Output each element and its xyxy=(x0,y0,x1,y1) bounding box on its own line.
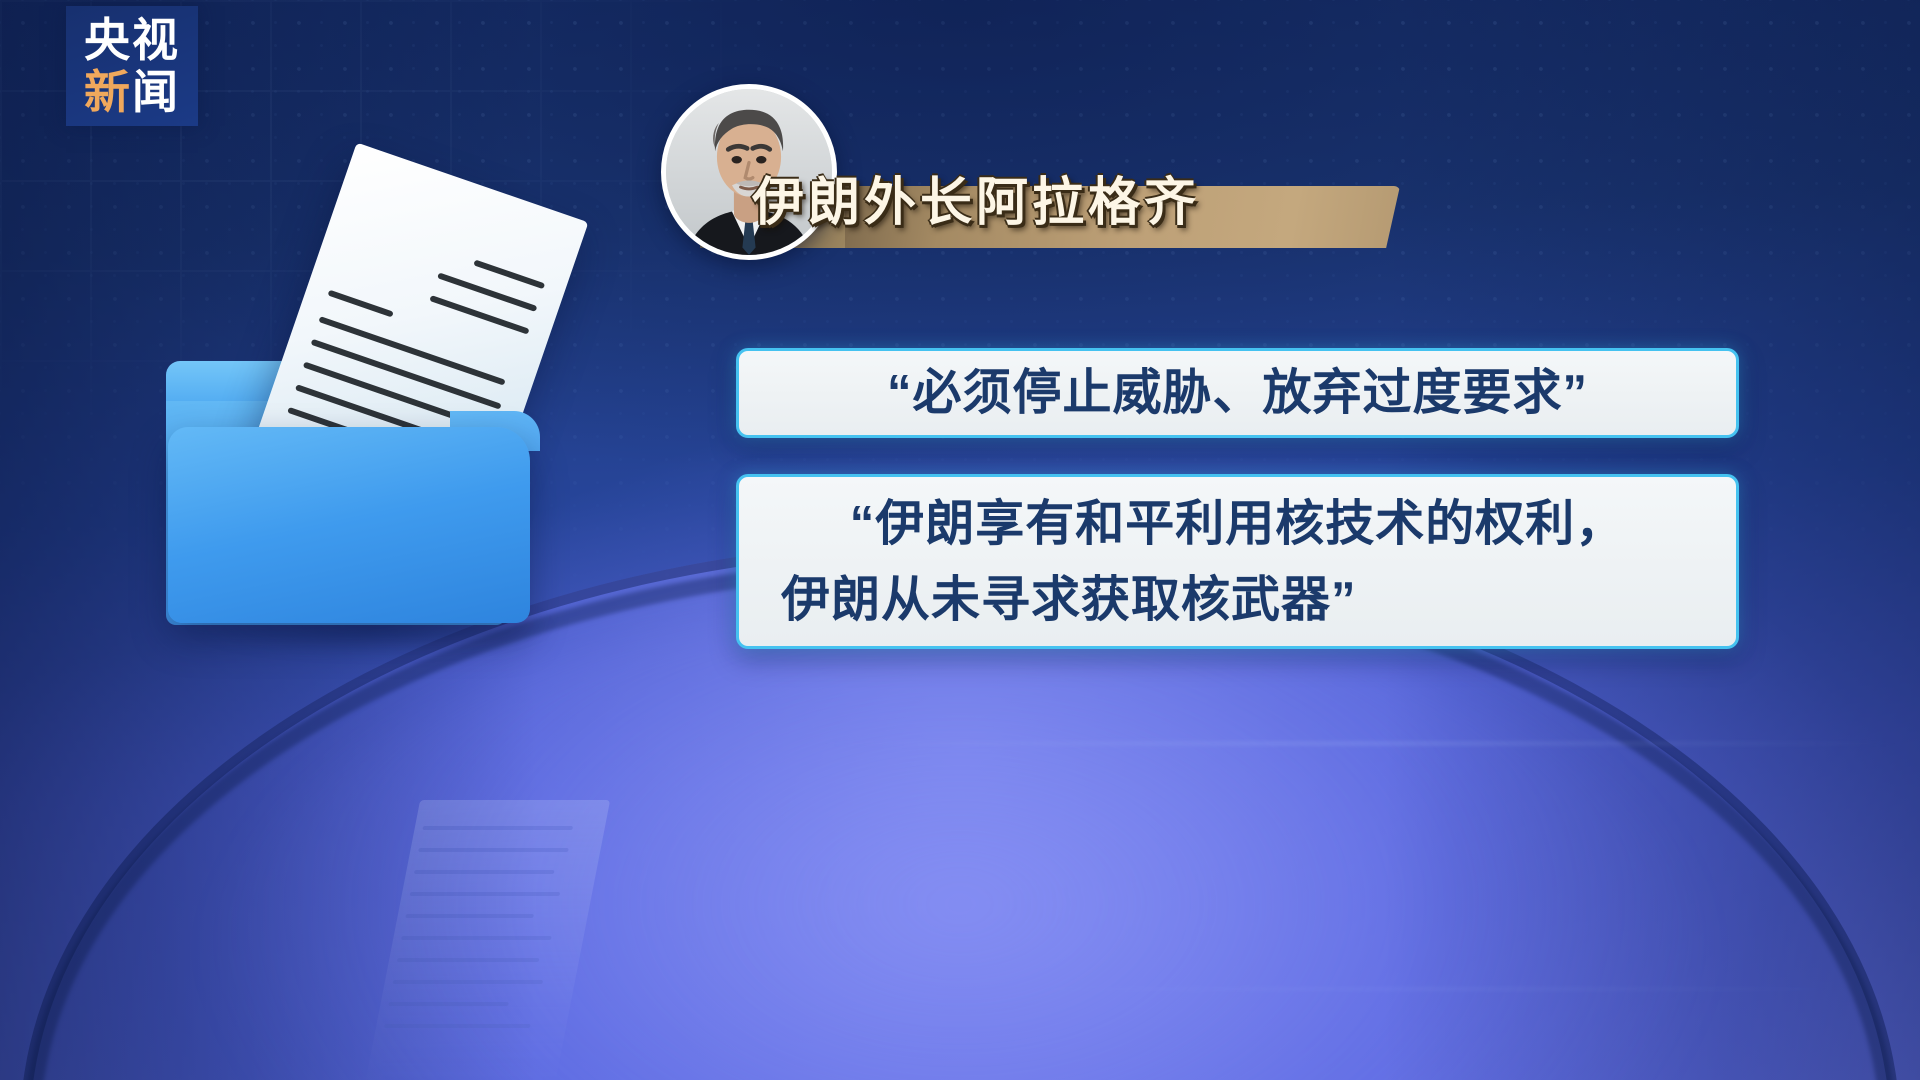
channel-logo-plain-char: 闻 xyxy=(132,66,180,118)
folder-front-panel xyxy=(168,427,530,623)
channel-logo-line-1: 央视 xyxy=(84,15,180,65)
broadcast-graphic: 央视 新闻 xyxy=(0,0,1920,1080)
quote-2-line-2: 伊朗从未寻求获取核武器” xyxy=(767,562,1708,638)
channel-logo: 央视 新闻 xyxy=(66,6,198,126)
light-streak xyxy=(980,988,1880,990)
channel-logo-line-2: 新闻 xyxy=(84,67,180,117)
folder-document-icon xyxy=(150,165,570,635)
light-streak xyxy=(820,742,1900,745)
quote-card-2: “伊朗享有和平利用核技术的权利， 伊朗从未寻求获取核武器” xyxy=(736,474,1739,649)
quote-card-1: “必须停止威胁、放弃过度要求” xyxy=(736,348,1739,438)
speaker-title-text: 伊朗外长阿拉格齐 xyxy=(752,160,1200,234)
quote-2-line-1: “伊朗享有和平利用核技术的权利， xyxy=(767,486,1708,562)
quote-1-line-1: “必须停止威胁、放弃过度要求” xyxy=(767,355,1708,431)
channel-logo-accent-char: 新 xyxy=(84,66,132,118)
